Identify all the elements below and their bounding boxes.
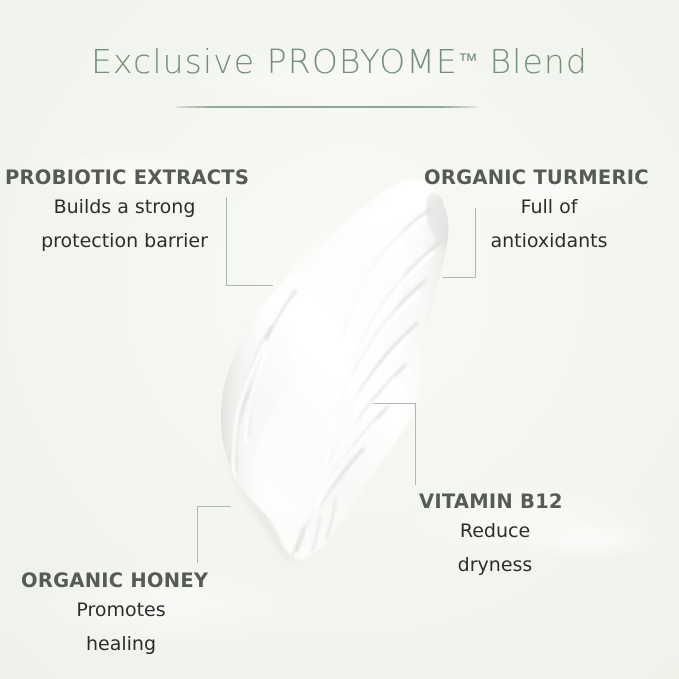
- callout-body-line: protection barrier: [5, 225, 244, 259]
- callout-heading: VITAMIN B12: [419, 492, 571, 512]
- connector-line-vitamin-b12-horizontal: [373, 403, 416, 404]
- callout-body: Full of antioxidants: [424, 191, 674, 259]
- connector-line-organic-honey-horizontal: [197, 506, 231, 507]
- callout-body-line: Reduce: [419, 515, 571, 549]
- connector-line-probiotic-extracts-horizontal: [226, 285, 273, 286]
- callout-organic-honey: ORGANIC HONEY Promotes healing: [21, 571, 221, 662]
- connector-line-organic-turmeric-horizontal: [443, 277, 476, 278]
- callout-heading: PROBIOTIC EXTRACTS: [5, 168, 249, 188]
- page-title-tail: Blend: [478, 42, 588, 81]
- callout-body: Promotes healing: [21, 594, 221, 662]
- callout-body-line: Promotes: [21, 594, 221, 628]
- trademark-symbol: ™: [458, 48, 478, 72]
- connector-line-organic-honey-vertical: [197, 506, 198, 563]
- callout-organic-turmeric: ORGANIC TURMERIC Full of antioxidants: [424, 168, 674, 259]
- callout-vitamin-b12: VITAMIN B12 Reduce dryness: [419, 492, 571, 583]
- callout-heading: ORGANIC HONEY: [21, 571, 221, 591]
- callout-probiotic-extracts: PROBIOTIC EXTRACTS Builds a strong prote…: [5, 168, 249, 259]
- callout-body-line: antioxidants: [424, 225, 674, 259]
- callout-body-line: dryness: [419, 549, 571, 583]
- callout-body: Reduce dryness: [419, 515, 571, 583]
- title-divider: [176, 106, 477, 108]
- callout-body-line: Full of: [424, 191, 674, 225]
- callout-heading: ORGANIC TURMERIC: [424, 168, 674, 188]
- page-title-main: Exclusive PROBYOME: [91, 42, 458, 81]
- connector-line-vitamin-b12-vertical: [415, 403, 416, 485]
- product-ingredient-infographic: Exclusive PROBYOME™ Blend: [0, 0, 679, 679]
- page-title: Exclusive PROBYOME™ Blend: [0, 42, 679, 81]
- callout-body: Builds a strong protection barrier: [5, 191, 244, 259]
- callout-body-line: Builds a strong: [5, 191, 244, 225]
- callout-body-line: healing: [21, 628, 221, 662]
